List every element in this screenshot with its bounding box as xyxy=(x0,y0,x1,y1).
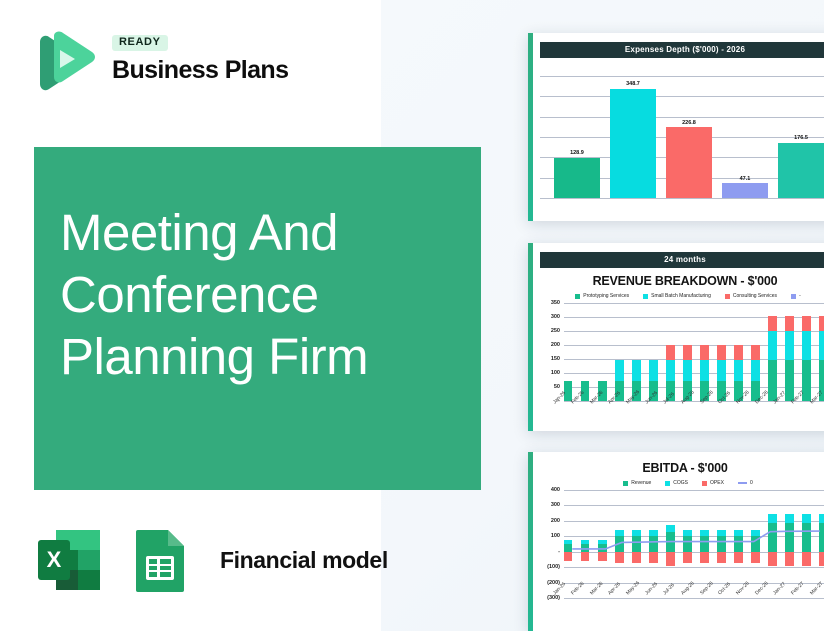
legend-swatch xyxy=(643,294,648,299)
chart-card-revenue: 24 months REVENUE BREAKDOWN - $'000 Prot… xyxy=(528,243,824,431)
bar-segment xyxy=(632,360,640,380)
bar-segment xyxy=(802,523,810,552)
bar-segment xyxy=(768,360,776,401)
bar-segment xyxy=(649,536,657,551)
stacked-bar xyxy=(802,303,810,401)
ebitda-chart-title: EBITDA - $'000 xyxy=(540,461,824,475)
revenue-y-axis: 35030025020015010050- xyxy=(540,303,562,401)
bar-segment xyxy=(802,316,810,331)
legend-item: Revenue xyxy=(623,480,651,486)
card-accent-bar xyxy=(528,33,533,221)
stacked-bar xyxy=(751,490,759,598)
bar-segment xyxy=(785,331,793,360)
bar-segment xyxy=(666,345,674,361)
stacked-bar xyxy=(785,490,793,598)
legend-item: - xyxy=(791,293,801,299)
y-axis-tick: 300 xyxy=(551,314,560,320)
y-axis-tick: 250 xyxy=(551,328,560,334)
revenue-x-axis-labels: Jan-26Feb-26Mar-26Apr-26May-26Jun-26Jul-… xyxy=(552,401,824,407)
bar-segment xyxy=(819,331,824,360)
y-axis-tick: 150 xyxy=(551,356,560,362)
expenses-bar-rect xyxy=(778,143,824,198)
expenses-bar-label: 176.5 xyxy=(794,135,808,141)
bar-segment xyxy=(632,552,640,564)
ready-badge: READY xyxy=(112,35,168,51)
bar-segment xyxy=(700,536,708,551)
bar-segment xyxy=(734,552,742,563)
stacked-bar xyxy=(751,303,759,401)
bar-segment xyxy=(700,530,708,536)
revenue-plot-area: 35030025020015010050- xyxy=(540,303,824,401)
expenses-bar: 348.7 xyxy=(610,76,656,198)
excel-icon: X xyxy=(34,524,106,596)
bar-segment xyxy=(683,360,691,380)
y-axis-tick: 100 xyxy=(551,370,560,376)
bar-segment xyxy=(751,536,759,551)
stacked-bars xyxy=(564,303,824,401)
y-axis-tick: 350 xyxy=(551,300,560,306)
bar-segment xyxy=(581,544,589,551)
revenue-chart-title: REVENUE BREAKDOWN - $'000 xyxy=(540,274,824,288)
legend-swatch xyxy=(665,481,670,486)
bar-segment xyxy=(717,530,725,536)
legend-swatch xyxy=(791,294,796,299)
bar-segment xyxy=(649,552,657,564)
legend-item: Small Batch Manufacturing xyxy=(643,293,711,299)
bar-segment xyxy=(615,536,623,551)
title-panel: Meeting And Conference Planning Firm xyxy=(34,147,481,490)
bar-segment xyxy=(734,536,742,551)
expenses-bar-rect xyxy=(722,183,768,198)
bar-segment xyxy=(768,316,776,331)
brand-name: Business Plans xyxy=(112,58,288,83)
bar-segment xyxy=(598,552,606,561)
ebitda-bar-group xyxy=(564,490,824,598)
bar-segment xyxy=(734,530,742,536)
legend-label: Small Batch Manufacturing xyxy=(651,293,711,299)
expenses-bar-label: 226.8 xyxy=(682,120,696,126)
expenses-bar-rect xyxy=(554,158,600,198)
expenses-plot-area: 128.9348.7226.847.1176.5 xyxy=(540,58,824,206)
brand-text: READY Business Plans xyxy=(112,32,288,83)
bar-segment xyxy=(802,514,810,523)
legend-label: - xyxy=(799,293,801,299)
bar-segment xyxy=(768,331,776,360)
bar-segment xyxy=(649,530,657,536)
chart-card-ebitda: EBITDA - $'000 RevenueCOGSOPEX0 40030020… xyxy=(528,452,824,631)
expenses-bar-rect xyxy=(610,89,656,198)
expenses-bar-label: 348.7 xyxy=(626,81,640,87)
svg-text:X: X xyxy=(47,547,62,572)
bar-segment xyxy=(598,540,606,544)
gridline xyxy=(540,198,824,199)
legend-swatch xyxy=(623,481,628,486)
ebitda-legend: RevenueCOGSOPEX0 xyxy=(542,480,824,486)
bar-segment xyxy=(564,544,572,551)
legend-swatch xyxy=(738,482,747,484)
bar-segment xyxy=(819,523,824,552)
expenses-chart-title: Expenses Depth ($'000) - 2026 xyxy=(540,42,824,58)
bar-segment xyxy=(751,345,759,361)
expenses-bar-group: 128.9348.7226.847.1176.5 xyxy=(554,76,824,198)
bar-segment xyxy=(632,530,640,536)
google-sheets-icon xyxy=(124,524,196,596)
bar-segment xyxy=(683,345,691,361)
legend-item: Prototyping Services xyxy=(575,293,629,299)
bar-segment xyxy=(683,530,691,536)
expenses-bar-label: 47.1 xyxy=(740,176,751,182)
bar-segment xyxy=(768,523,776,552)
bar-segment xyxy=(819,514,824,523)
y-axis-tick: 300 xyxy=(551,502,560,508)
bar-segment xyxy=(615,530,623,536)
bar-segment xyxy=(734,345,742,361)
ebitda-x-axis-labels: Jan-26Feb-26Mar-26Apr-26May-26Jun-26Jul-… xyxy=(552,592,824,598)
bar-segment xyxy=(785,514,793,523)
bar-segment xyxy=(666,532,674,552)
bar-segment xyxy=(785,552,793,566)
bar-segment xyxy=(564,540,572,544)
stacked-bar xyxy=(700,303,708,401)
bar-segment xyxy=(632,536,640,551)
card-accent-bar xyxy=(528,452,533,631)
bar-segment xyxy=(581,540,589,544)
y-axis-tick: 100 xyxy=(551,533,560,539)
y-axis-tick: - xyxy=(558,549,560,555)
bar-segment xyxy=(700,345,708,361)
legend-swatch xyxy=(725,294,730,299)
stacked-bar xyxy=(564,490,572,598)
chart-card-expenses: Expenses Depth ($'000) - 2026 128.9348.7… xyxy=(528,33,824,221)
stacked-bar xyxy=(768,490,776,598)
stacked-bar xyxy=(598,303,606,401)
bar-segment xyxy=(615,552,623,564)
expenses-bar: 47.1 xyxy=(722,76,768,198)
stacked-bar xyxy=(615,303,623,401)
legend-swatch xyxy=(702,481,707,486)
legend-item: Consulting Services xyxy=(725,293,777,299)
y-axis-tick: 200 xyxy=(551,342,560,348)
y-axis-tick: 50 xyxy=(554,384,560,390)
expenses-bar-rect xyxy=(666,127,712,198)
bar-segment xyxy=(717,360,725,380)
revenue-period-header: 24 months xyxy=(540,252,824,268)
bar-segment xyxy=(819,552,824,566)
page-title: Meeting And Conference Planning Firm xyxy=(60,202,460,389)
expenses-bar: 128.9 xyxy=(554,76,600,198)
footer-label: Financial model xyxy=(220,547,388,574)
stacked-bar xyxy=(683,303,691,401)
bar-segment xyxy=(751,552,759,563)
bar-segment xyxy=(751,530,759,536)
y-axis-tick: 400 xyxy=(551,487,560,493)
stacked-bar xyxy=(564,303,572,401)
stacked-bar xyxy=(649,303,657,401)
revenue-bar-group xyxy=(564,303,824,401)
legend-label: Revenue xyxy=(631,480,651,486)
ebitda-y-axis: 400300200100-(100)(200)(300) xyxy=(540,490,562,598)
stacked-bar xyxy=(819,303,824,401)
legend-item: OPEX xyxy=(702,480,724,486)
bar-segment xyxy=(802,552,810,566)
legend-label: OPEX xyxy=(710,480,724,486)
stacked-bar xyxy=(632,303,640,401)
revenue-legend: Prototyping ServicesSmall Batch Manufact… xyxy=(542,293,824,299)
expenses-bar-label: 128.9 xyxy=(570,150,584,156)
bar-segment xyxy=(717,552,725,563)
legend-label: Prototyping Services xyxy=(583,293,629,299)
y-axis-tick: (100) xyxy=(547,564,560,570)
bar-segment xyxy=(717,536,725,551)
legend-label: 0 xyxy=(750,480,753,486)
brand-logo-block: READY Business Plans xyxy=(34,28,334,104)
stacked-bar xyxy=(802,490,810,598)
stacked-bar xyxy=(734,303,742,401)
bar-segment xyxy=(666,552,674,566)
bar-segment xyxy=(581,552,589,561)
legend-label: COGS xyxy=(673,480,688,486)
stacked-bar xyxy=(666,303,674,401)
expenses-bar: 226.8 xyxy=(666,76,712,198)
bar-segment xyxy=(819,316,824,331)
stacked-bar xyxy=(581,303,589,401)
bar-segment xyxy=(700,360,708,380)
gridline xyxy=(564,598,824,599)
bar-segment xyxy=(649,360,657,380)
stacked-bars xyxy=(564,490,824,598)
bar-segment xyxy=(666,360,674,380)
bar-segment xyxy=(615,360,623,380)
y-axis-tick: 200 xyxy=(551,518,560,524)
legend-item: COGS xyxy=(665,480,688,486)
footer-row: X Financial model xyxy=(34,522,388,598)
bar-segment xyxy=(683,536,691,551)
stacked-bar xyxy=(717,490,725,598)
bar-segment xyxy=(700,552,708,563)
stacked-bar xyxy=(768,303,776,401)
legend-item: 0 xyxy=(738,480,753,486)
bar-segment xyxy=(802,331,810,360)
bar-segment xyxy=(734,360,742,380)
bar-segment xyxy=(751,360,759,380)
bar-segment xyxy=(564,552,572,561)
stacked-bar xyxy=(785,303,793,401)
legend-label: Consulting Services xyxy=(733,293,777,299)
play-triangle-logo-icon xyxy=(34,30,96,96)
card-accent-bar xyxy=(528,243,533,431)
bar-segment xyxy=(768,552,776,566)
bar-segment xyxy=(666,525,674,532)
legend-swatch xyxy=(575,294,580,299)
stacked-bar xyxy=(717,303,725,401)
bar-segment xyxy=(785,316,793,331)
bar-segment xyxy=(785,523,793,552)
stacked-bar xyxy=(734,490,742,598)
bar-segment xyxy=(717,345,725,361)
bar-segment xyxy=(768,514,776,523)
expenses-bar: 176.5 xyxy=(778,76,824,198)
bar-segment xyxy=(598,544,606,551)
bar-segment xyxy=(683,552,691,563)
